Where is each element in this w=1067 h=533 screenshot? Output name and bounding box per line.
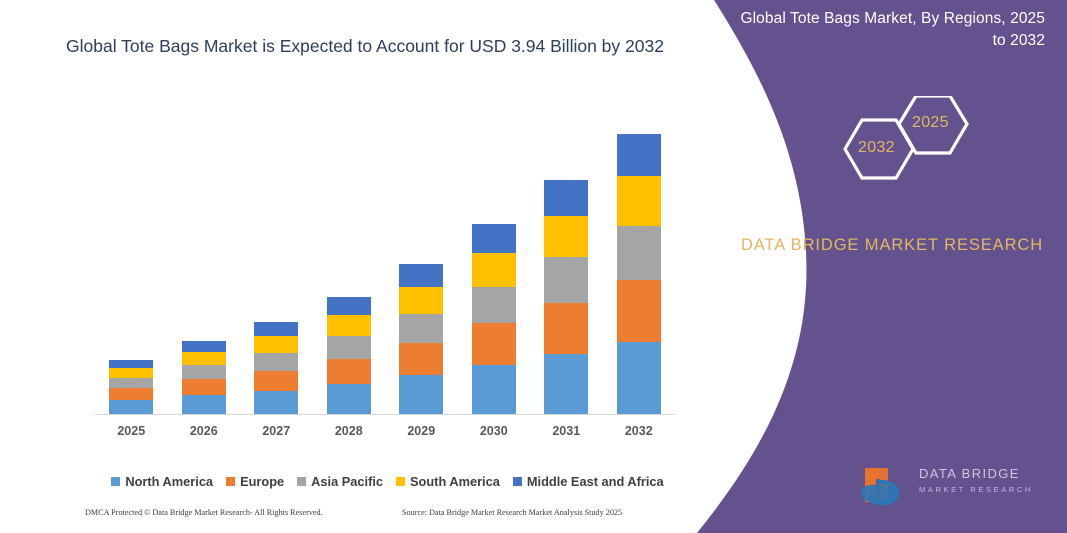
- bar-segment-2028-asia-pacific[interactable]: [327, 336, 371, 359]
- legend-label: Europe: [240, 474, 284, 489]
- brand-name: DATA BRIDGE MARKET RESEARCH: [717, 232, 1067, 258]
- bar-2031[interactable]: [544, 180, 588, 414]
- bar-segment-2032-south-america[interactable]: [617, 176, 661, 226]
- logo-subtitle: MARKET RESEARCH: [919, 484, 1033, 496]
- dbmr-logo-mark: [855, 462, 917, 508]
- legend-item-middle-east-and-africa[interactable]: Middle East and Africa: [513, 474, 664, 489]
- bar-2028[interactable]: [327, 297, 371, 414]
- x-axis-label-2027: 2027: [246, 424, 306, 438]
- legend-swatch-icon: [297, 477, 306, 486]
- bar-segment-2025-south-america[interactable]: [109, 368, 153, 378]
- bar-segment-2027-south-america[interactable]: [254, 336, 298, 352]
- bar-segment-2031-europe[interactable]: [544, 303, 588, 354]
- hexagon-badges: 2032 2025: [815, 96, 975, 206]
- bar-segment-2025-asia-pacific[interactable]: [109, 378, 153, 388]
- chart-title: Global Tote Bags Market is Expected to A…: [60, 32, 670, 61]
- legend-label: South America: [410, 474, 500, 489]
- dbmr-logo: DATA BRIDGE MARKET RESEARCH: [855, 462, 1045, 510]
- bar-2026[interactable]: [182, 341, 226, 414]
- bar-segment-2032-europe[interactable]: [617, 280, 661, 342]
- legend-label: Asia Pacific: [311, 474, 383, 489]
- legend-swatch-icon: [396, 477, 405, 486]
- hexagon-2032-label: 2032: [858, 139, 895, 157]
- x-axis-label-2025: 2025: [101, 424, 161, 438]
- x-axis-label-2026: 2026: [174, 424, 234, 438]
- bar-segment-2027-europe[interactable]: [254, 371, 298, 391]
- bar-segment-2028-middle-east-and-africa[interactable]: [327, 297, 371, 315]
- logo-title: DATA BRIDGE: [919, 466, 1033, 481]
- chart-legend: North AmericaEuropeAsia PacificSouth Ame…: [95, 472, 680, 490]
- bar-segment-2031-asia-pacific[interactable]: [544, 257, 588, 302]
- bar-segment-2026-europe[interactable]: [182, 379, 226, 395]
- bar-segment-2028-europe[interactable]: [327, 359, 371, 385]
- x-axis-label-2032: 2032: [609, 424, 669, 438]
- chart-x-axis: 20252026202720282029203020312032: [95, 424, 675, 442]
- bar-segment-2026-asia-pacific[interactable]: [182, 365, 226, 379]
- legend-label: North America: [125, 474, 213, 489]
- hexagon-2025-label: 2025: [912, 114, 949, 132]
- chart-plot-area: [95, 110, 675, 415]
- bar-segment-2030-north-america[interactable]: [472, 365, 516, 414]
- footer-copyright: DMCA Protected © Data Bridge Market Rese…: [85, 508, 323, 517]
- bar-segment-2028-north-america[interactable]: [327, 384, 371, 414]
- bar-segment-2025-north-america[interactable]: [109, 400, 153, 414]
- panel-content: Global Tote Bags Market, By Regions, 202…: [717, 0, 1067, 533]
- legend-item-south-america[interactable]: South America: [396, 474, 500, 489]
- x-axis-label-2030: 2030: [464, 424, 524, 438]
- panel-title: Global Tote Bags Market, By Regions, 202…: [735, 8, 1045, 52]
- legend-swatch-icon: [513, 477, 522, 486]
- bar-segment-2030-europe[interactable]: [472, 323, 516, 365]
- bar-segment-2026-north-america[interactable]: [182, 395, 226, 414]
- bar-segment-2031-middle-east-and-africa[interactable]: [544, 180, 588, 215]
- bar-2030[interactable]: [472, 224, 516, 414]
- bar-segment-2032-middle-east-and-africa[interactable]: [617, 134, 661, 176]
- legend-swatch-icon: [226, 477, 235, 486]
- bar-segment-2032-asia-pacific[interactable]: [617, 226, 661, 280]
- bar-segment-2029-north-america[interactable]: [399, 375, 443, 414]
- bar-2032[interactable]: [617, 134, 661, 414]
- bar-segment-2029-europe[interactable]: [399, 343, 443, 376]
- bar-segment-2030-asia-pacific[interactable]: [472, 287, 516, 324]
- bar-segment-2030-middle-east-and-africa[interactable]: [472, 224, 516, 253]
- bar-2029[interactable]: [399, 264, 443, 414]
- bar-segment-2026-south-america[interactable]: [182, 352, 226, 365]
- bar-segment-2028-south-america[interactable]: [327, 315, 371, 336]
- x-axis-label-2028: 2028: [319, 424, 379, 438]
- bar-segment-2026-middle-east-and-africa[interactable]: [182, 341, 226, 352]
- bar-segment-2027-north-america[interactable]: [254, 391, 298, 414]
- bar-segment-2031-north-america[interactable]: [544, 354, 588, 414]
- bar-segment-2025-middle-east-and-africa[interactable]: [109, 360, 153, 368]
- legend-swatch-icon: [111, 477, 120, 486]
- legend-item-asia-pacific[interactable]: Asia Pacific: [297, 474, 383, 489]
- footer: DMCA Protected © Data Bridge Market Rese…: [0, 508, 700, 528]
- footer-source: Source: Data Bridge Market Research Mark…: [402, 508, 622, 517]
- bar-segment-2030-south-america[interactable]: [472, 253, 516, 287]
- x-axis-label-2031: 2031: [536, 424, 596, 438]
- bar-segment-2029-middle-east-and-africa[interactable]: [399, 264, 443, 287]
- bar-segment-2027-middle-east-and-africa[interactable]: [254, 322, 298, 336]
- bar-2025[interactable]: [109, 360, 153, 414]
- bar-segment-2029-south-america[interactable]: [399, 287, 443, 314]
- legend-item-europe[interactable]: Europe: [226, 474, 284, 489]
- bar-segment-2025-europe[interactable]: [109, 388, 153, 400]
- bar-segment-2029-asia-pacific[interactable]: [399, 314, 443, 343]
- infographic-canvas: Global Tote Bags Market, By Regions, 202…: [0, 0, 1067, 533]
- bar-2027[interactable]: [254, 322, 298, 414]
- chart-baseline: [95, 414, 675, 415]
- bar-segment-2032-north-america[interactable]: [617, 342, 661, 414]
- bar-segment-2031-south-america[interactable]: [544, 216, 588, 258]
- bar-segment-2027-asia-pacific[interactable]: [254, 353, 298, 371]
- legend-item-north-america[interactable]: North America: [111, 474, 213, 489]
- legend-label: Middle East and Africa: [527, 474, 664, 489]
- x-axis-label-2029: 2029: [391, 424, 451, 438]
